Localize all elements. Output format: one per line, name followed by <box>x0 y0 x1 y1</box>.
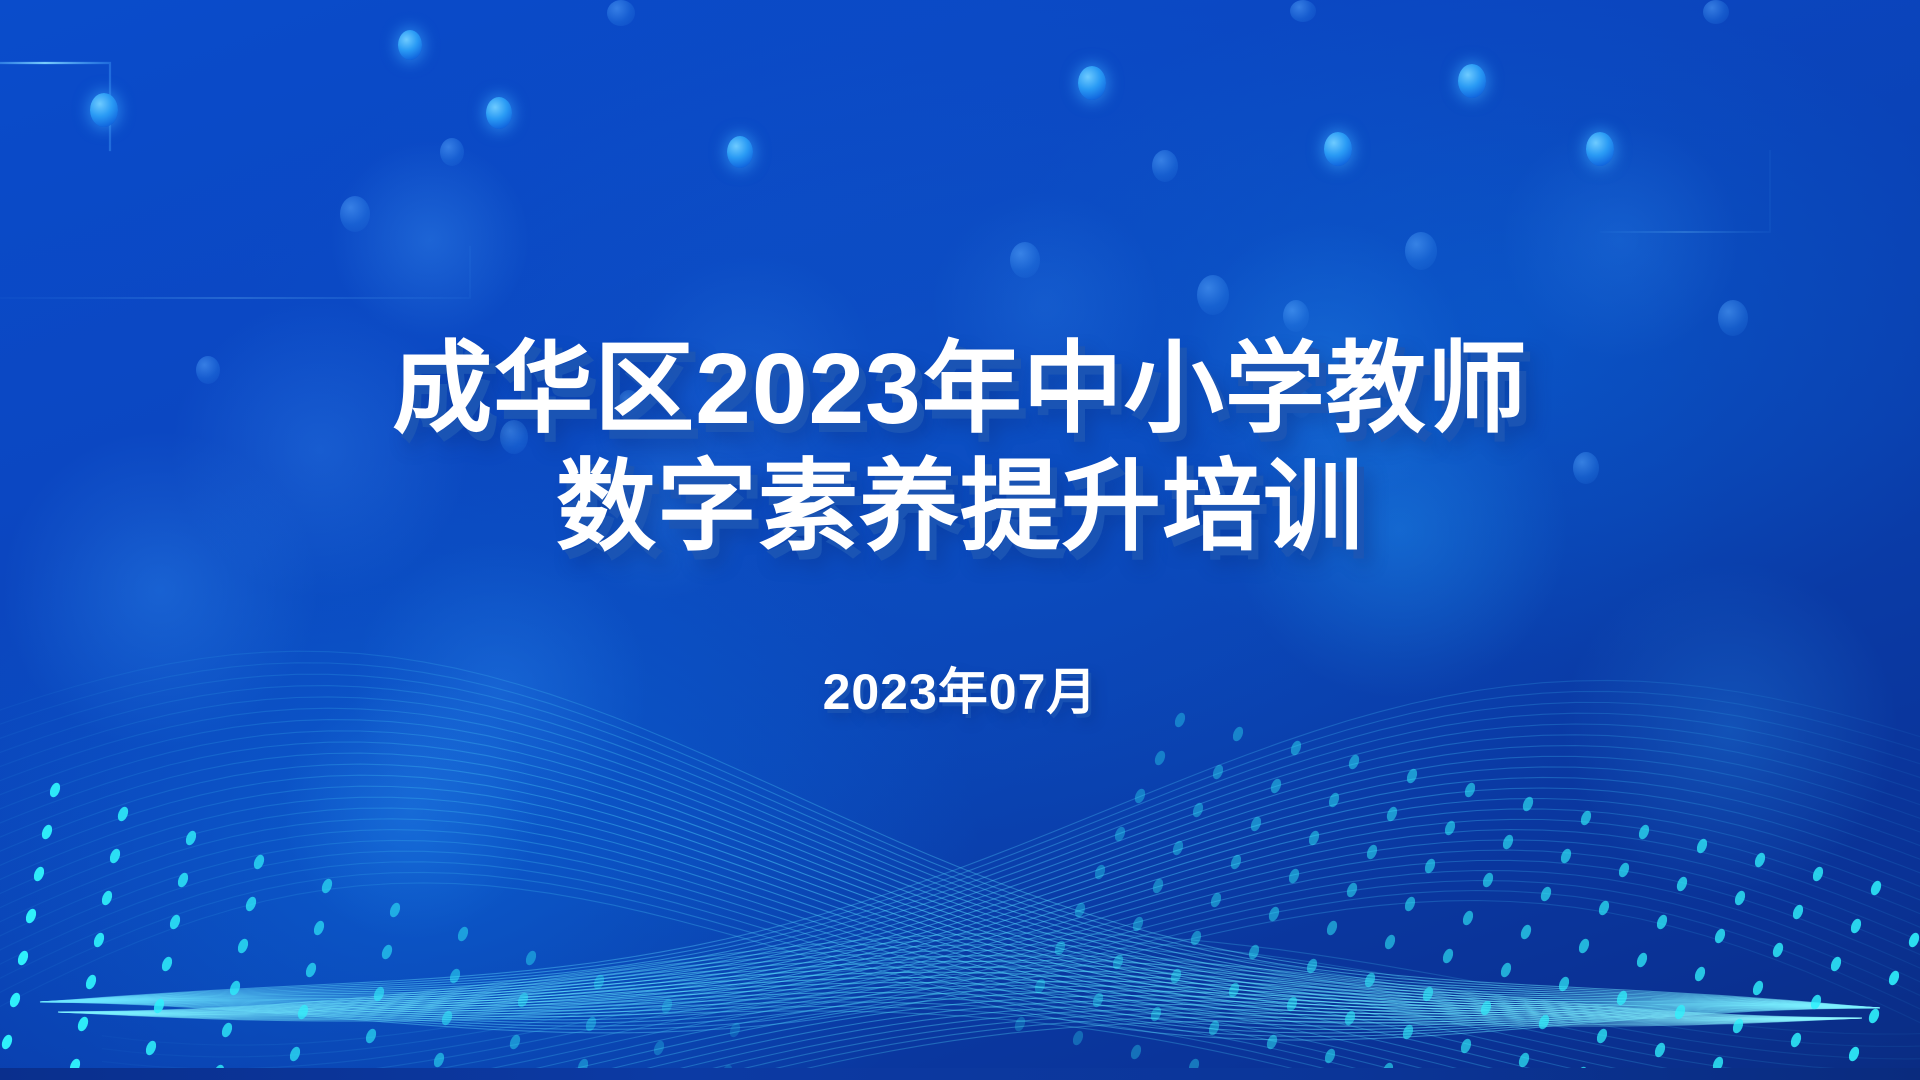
wave-dot <box>1771 941 1785 959</box>
wave-dot <box>24 907 38 925</box>
wave-line <box>40 881 1920 1033</box>
wave-line <box>40 680 1920 1002</box>
wave-dot <box>1385 805 1399 823</box>
wave-dot <box>228 979 242 997</box>
wave-dot <box>1191 801 1205 819</box>
circuit-node <box>607 0 635 26</box>
wave-dot <box>524 949 538 967</box>
wave-line <box>58 939 1920 1047</box>
wave-dot <box>1363 971 1377 989</box>
wave-line <box>102 955 1862 1045</box>
wave-dot <box>1789 1031 1803 1049</box>
wave-line <box>40 819 1920 1008</box>
wave-line <box>40 871 1920 1023</box>
wave-line <box>40 891 1920 1048</box>
wave-line <box>0 819 1880 1020</box>
wave-dot <box>1517 1051 1531 1069</box>
wave-line <box>0 840 1880 1026</box>
wave-dot <box>288 1045 302 1063</box>
wave-dot <box>1033 977 1047 995</box>
wave-dot <box>1887 969 1901 987</box>
wave-dot <box>1733 889 1747 907</box>
wave-dot <box>1811 865 1825 883</box>
wave-line <box>0 797 1880 1014</box>
wave-dot <box>1287 867 1301 885</box>
wave-line <box>40 724 1920 1002</box>
circuit-node <box>1290 0 1316 22</box>
wave-line <box>58 993 1920 1080</box>
wave-dot <box>1849 917 1863 935</box>
wave-line <box>58 967 1920 1080</box>
wave-dot <box>380 943 394 961</box>
wave-dot <box>160 955 174 973</box>
wave-line <box>40 767 1920 1002</box>
title-slide: 成华区2023年中小学教师 数字素养提升培训 2023年07月 <box>0 0 1920 1080</box>
wave-dot <box>1231 725 1245 743</box>
wave-dot <box>244 895 258 913</box>
wave-dot <box>184 829 198 847</box>
wave-dot <box>168 913 182 931</box>
wave-dot <box>1557 975 1571 993</box>
wave-dot <box>1189 929 1203 947</box>
wave-dot <box>1615 989 1629 1007</box>
wave-dot <box>1289 739 1303 757</box>
wave-dot <box>1267 905 1281 923</box>
wave-dot <box>1265 1033 1279 1051</box>
wave-dot <box>1133 787 1147 805</box>
wave-line <box>58 956 1920 1080</box>
wave-dot <box>1869 879 1883 897</box>
wave-line <box>102 986 1862 1080</box>
wave-line <box>40 735 1920 1002</box>
wave-dot <box>1111 953 1125 971</box>
wave-dot <box>1579 809 1593 827</box>
wave-line <box>0 708 1880 1008</box>
wave-dot <box>1229 853 1243 871</box>
wave-dot <box>1093 863 1107 881</box>
wave-dot <box>84 973 98 991</box>
wave-dot <box>1247 943 1261 961</box>
wave-dot <box>508 1033 522 1051</box>
wave-dot <box>1653 1041 1667 1059</box>
circuit-node <box>440 138 464 166</box>
wave-dot <box>304 961 318 979</box>
wave-line <box>0 674 1880 1008</box>
wave-dot <box>1461 909 1475 927</box>
wave-dot <box>1479 999 1493 1017</box>
wave-line <box>0 862 1880 1033</box>
wave-dot <box>1209 891 1223 909</box>
wave-dot <box>1753 851 1767 869</box>
wave-dot <box>1269 777 1283 795</box>
wave-line <box>102 966 1862 1069</box>
wave-line <box>102 981 1862 1080</box>
wave-dot <box>100 889 114 907</box>
wave-dot <box>1153 749 1167 767</box>
wave-dot <box>516 991 530 1009</box>
circuit-node <box>1703 0 1729 24</box>
wave-line <box>40 901 1920 1062</box>
wave-line <box>102 961 1862 1057</box>
wave-dot <box>1481 871 1495 889</box>
wave-dot <box>1249 815 1263 833</box>
bokeh-glow <box>330 140 530 340</box>
bottom-strip <box>0 1068 1920 1080</box>
circuit-node <box>1458 64 1486 98</box>
wave-line <box>40 702 1920 1002</box>
wave-line <box>58 983 1920 1080</box>
wave-dot <box>1323 1047 1337 1065</box>
wave-dot <box>432 1051 446 1069</box>
wave-dot <box>1073 901 1087 919</box>
wave-dot <box>1637 823 1651 841</box>
wave-line <box>58 950 1920 1071</box>
circuit-node <box>1152 150 1178 182</box>
wave-dot <box>1693 965 1707 983</box>
wave-dot <box>0 1033 14 1051</box>
wave-line <box>58 977 1920 1080</box>
wave-line <box>40 799 1920 1004</box>
wave-dot <box>1655 913 1669 931</box>
wave-dot <box>1809 993 1823 1011</box>
wave-line <box>0 697 1880 1008</box>
wave-line <box>40 713 1920 1002</box>
wave-dot <box>1227 981 1241 999</box>
wave-dot <box>1403 895 1417 913</box>
wave-dot <box>364 1027 378 1045</box>
wave-dot <box>456 925 470 943</box>
wave-dot <box>1113 825 1127 843</box>
wave-line <box>40 840 1920 1014</box>
wave-dot <box>1537 1013 1551 1031</box>
wave-dot <box>1521 795 1535 813</box>
wave-dot <box>1401 1023 1415 1041</box>
wave-dot <box>388 901 402 919</box>
wave-line <box>40 746 1920 1002</box>
wave-dot <box>176 871 190 889</box>
wave-line <box>40 850 1920 1017</box>
wave-line <box>40 691 1920 1002</box>
wave-dot <box>8 991 22 1009</box>
wave-dot <box>372 985 386 1003</box>
wave-dot <box>1443 819 1457 837</box>
wave-line <box>0 830 1880 1023</box>
circuit-node <box>486 97 512 129</box>
wave-dot <box>1131 915 1145 933</box>
wave-line <box>0 808 1880 1017</box>
wave-line <box>58 988 1920 1080</box>
wave-dot <box>1149 1005 1163 1023</box>
wave-dot <box>728 1021 742 1039</box>
wave-dot <box>1151 877 1165 895</box>
wave-line <box>40 809 1920 1006</box>
wave-dot <box>1791 903 1805 921</box>
wave-line <box>0 753 1880 1008</box>
wave-dot <box>584 1015 598 1033</box>
wave-dot <box>236 937 250 955</box>
wave-line <box>40 777 1920 1002</box>
wave-dot <box>1169 967 1183 985</box>
wave-dot <box>1829 955 1843 973</box>
wave-dot <box>1327 791 1341 809</box>
circuit-node <box>340 196 370 232</box>
wave-dot <box>1129 1043 1143 1061</box>
title-text-block: 成华区2023年中小学教师 数字素养提升培训 2023年07月 <box>0 330 1920 722</box>
wave-line <box>58 972 1920 1080</box>
wave-dot <box>1867 1007 1881 1025</box>
wave-line <box>0 786 1880 1011</box>
wave-dot <box>1539 885 1553 903</box>
wave-dot <box>1463 781 1477 799</box>
wave-dot <box>1171 839 1185 857</box>
wave-line <box>0 720 1880 1008</box>
wave-dot <box>1459 1037 1473 1055</box>
wave-line <box>58 961 1920 1080</box>
wave-dot <box>1673 1003 1687 1021</box>
wave-dot <box>92 931 106 949</box>
wave-dot <box>1211 763 1225 781</box>
wave-dot <box>1383 933 1397 951</box>
wave-dot <box>1713 927 1727 945</box>
circuit-node <box>1197 275 1229 315</box>
wave-dot <box>1325 919 1339 937</box>
wave-dot <box>312 919 326 937</box>
wave-dot <box>76 1015 90 1033</box>
wave-dot <box>1343 1009 1357 1027</box>
wave-line <box>0 764 1880 1008</box>
wave-dot <box>252 853 266 871</box>
wave-dot <box>40 823 54 841</box>
wave-line <box>0 742 1880 1008</box>
wave-line <box>40 756 1920 1002</box>
wave-line <box>58 933 1920 1034</box>
wave-dot <box>1405 767 1419 785</box>
wave-dot <box>1071 1029 1085 1047</box>
wave-dot <box>1751 979 1765 997</box>
wave-dot <box>440 1009 454 1027</box>
wave-dot <box>1847 1045 1861 1063</box>
wave-dot <box>660 997 674 1015</box>
wave-dot <box>108 847 122 865</box>
wave-dot <box>1559 847 1573 865</box>
wave-line <box>40 830 1920 1011</box>
title-line-1: 成华区2023年中小学教师 <box>0 330 1920 448</box>
wave-dot <box>592 973 606 991</box>
wave-dot <box>1365 843 1379 861</box>
wave-dot <box>1441 947 1455 965</box>
wave-line <box>0 872 1880 1036</box>
wave-dot <box>1635 951 1649 969</box>
wave-dot <box>1675 875 1689 893</box>
circuit-node <box>727 136 753 168</box>
wave-dot <box>1617 861 1631 879</box>
circuit-node <box>1324 132 1352 166</box>
wave-dot <box>448 967 462 985</box>
circuit-node <box>90 93 118 127</box>
wave-dot <box>1519 923 1533 941</box>
wave-dot <box>152 997 166 1015</box>
circuit-node <box>1283 300 1309 332</box>
wave-dot <box>1597 899 1611 917</box>
wave-line <box>0 775 1880 1008</box>
wave-dot <box>16 949 30 967</box>
slide-date: 2023年07月 <box>0 662 1920 722</box>
wave-line <box>40 860 1920 1019</box>
wave-dot <box>1501 833 1515 851</box>
wave-dot <box>652 1039 666 1057</box>
wave-line <box>40 788 1920 1002</box>
wave-dot <box>144 1039 158 1057</box>
wave-dot <box>1013 1015 1027 1033</box>
wave-line <box>58 945 1920 1059</box>
wave-dot <box>32 865 46 883</box>
wave-dot <box>1053 939 1067 957</box>
wave-dot <box>1907 931 1920 949</box>
wave-dot <box>1499 961 1513 979</box>
wave-dot <box>1285 995 1299 1013</box>
wave-dot <box>1731 1017 1745 1035</box>
wave-dot <box>296 1003 310 1021</box>
wave-line <box>102 971 1862 1080</box>
title-line-2: 数字素养提升培训 <box>0 448 1920 566</box>
wave-line <box>0 883 1880 1040</box>
wave-dot <box>220 1021 234 1039</box>
circuit-node <box>1078 66 1106 100</box>
wave-dot <box>1423 857 1437 875</box>
wave-dot <box>1595 1027 1609 1045</box>
wave-line <box>0 731 1880 1008</box>
wave-dot <box>1345 881 1359 899</box>
wave-dot <box>116 805 130 823</box>
wave-dot <box>1577 937 1591 955</box>
circuit-node <box>398 30 422 60</box>
circuit-node <box>1010 242 1040 278</box>
wave-dot <box>1695 837 1709 855</box>
wave-dot <box>1207 1019 1221 1037</box>
wave-dot <box>1421 985 1435 1003</box>
wave-line <box>102 991 1862 1080</box>
wave-line <box>102 976 1862 1080</box>
wave-dot <box>1091 991 1105 1009</box>
circuit-node <box>1586 132 1614 166</box>
wave-line <box>0 851 1880 1029</box>
wave-dot <box>1307 829 1321 847</box>
wave-dot <box>1347 753 1361 771</box>
circuit-node <box>1405 232 1437 270</box>
bokeh-glow <box>1500 120 1740 360</box>
wave-dot <box>320 877 334 895</box>
wave-dot <box>48 781 62 799</box>
wave-line <box>0 686 1880 1008</box>
wave-dot <box>1305 957 1319 975</box>
